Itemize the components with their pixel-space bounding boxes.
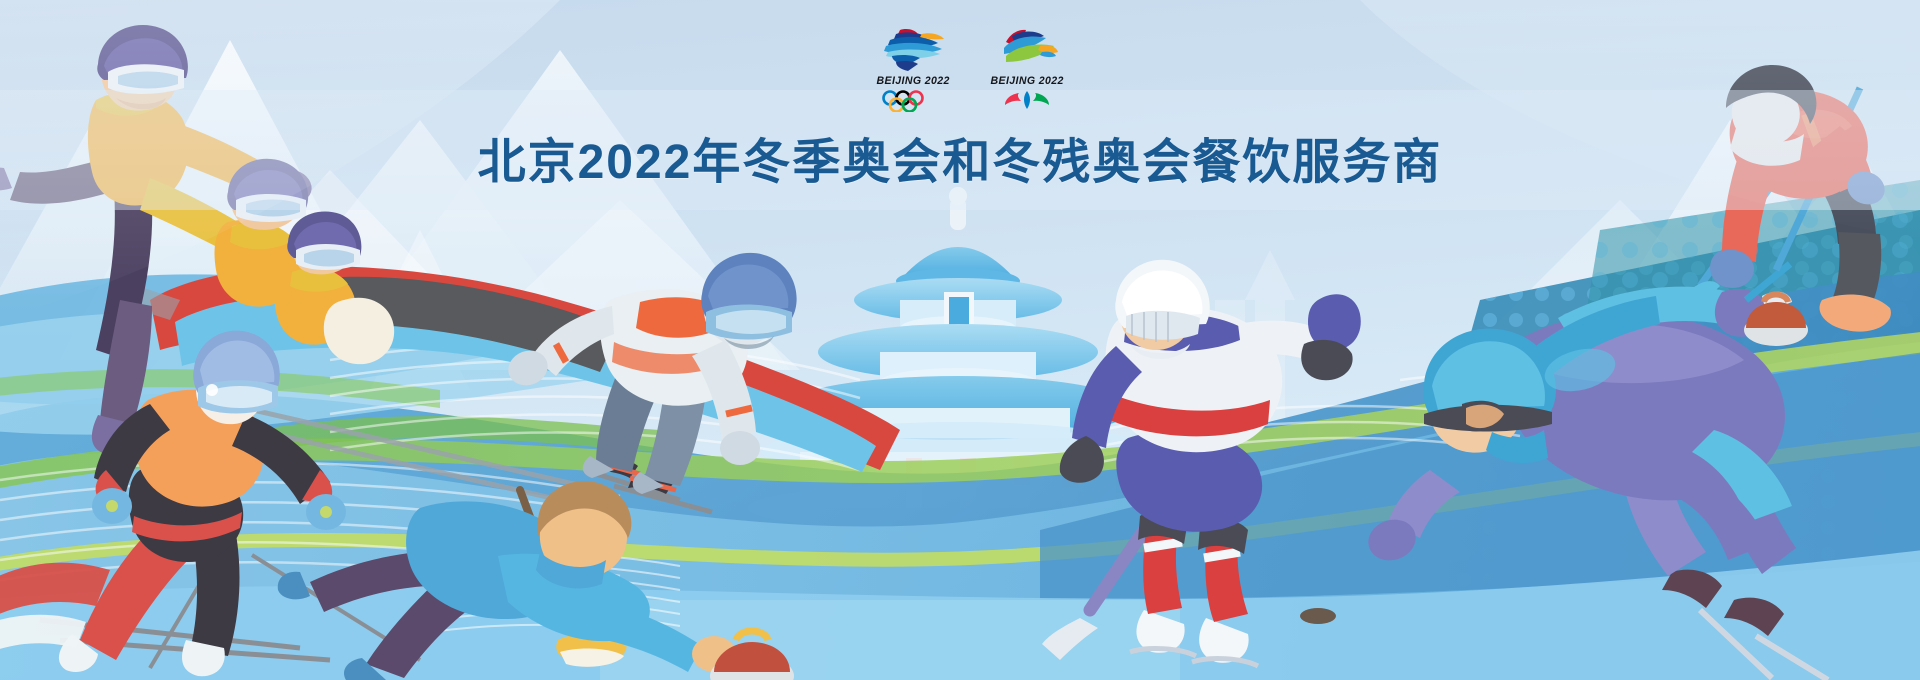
olympic-logo: BEIJING 2022 <box>870 26 956 112</box>
paralympic-agitos <box>1001 90 1053 112</box>
beijing-2022-olympic-emblem <box>870 26 956 74</box>
paralympic-logo: BEIJING 2022 <box>984 26 1070 112</box>
olympic-rings <box>878 90 948 112</box>
paralympic-wordmark: BEIJING 2022 <box>990 76 1063 87</box>
olympic-wordmark: BEIJING 2022 <box>876 76 949 87</box>
logo-block: BEIJING 2022 BEIJING 20 <box>870 26 1070 118</box>
beijing-2022-paralympic-emblem <box>984 26 1070 74</box>
beijing-2022-banner: BEIJING 2022 BEIJING 20 <box>0 0 1920 680</box>
page-title: 北京2022年冬季奥会和冬残奥会餐饮服务商 <box>0 122 1920 192</box>
